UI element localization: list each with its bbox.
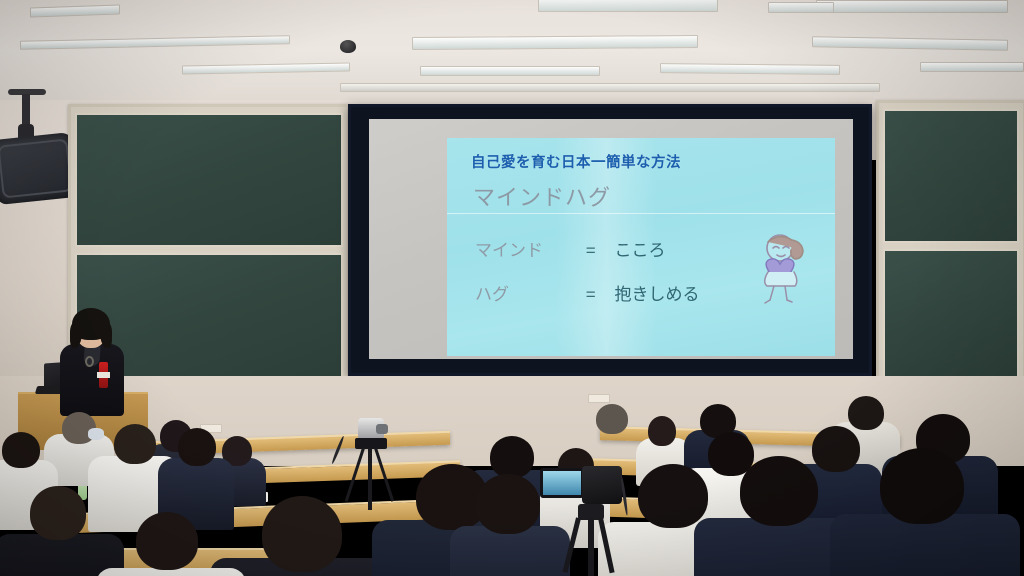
ceiling-light-icon (182, 63, 350, 75)
tripod-leg (588, 518, 594, 576)
screen-surface: 自己愛を育む日本一簡単な方法 マインドハグ マインド = こころ ハグ = 抱き… (369, 119, 853, 359)
slide-definition: 抱きしめる (614, 280, 699, 305)
wall-outlet (588, 394, 610, 403)
chalkboard-right (876, 100, 1024, 392)
dome-camera-icon (340, 40, 356, 53)
ceiling-light-icon (20, 35, 290, 50)
necklace-pendant (85, 356, 94, 367)
ceiling-light-icon (412, 35, 698, 50)
slide-divider (447, 213, 835, 214)
slide-heading: マインドハグ (473, 180, 611, 212)
presenter-hair (72, 308, 110, 340)
ceiling (0, 0, 1024, 112)
tripod-leg (368, 448, 372, 510)
ceiling-light-icon (538, 0, 718, 12)
ceiling-light-icon (30, 4, 120, 17)
ceiling-light-icon (768, 2, 834, 13)
ceiling-light-icon (420, 66, 600, 76)
chalkboard-panel (75, 113, 343, 247)
chalkboard-panel (883, 249, 1019, 379)
video-camera-body (582, 466, 622, 504)
slide-definition: こころ (614, 236, 665, 261)
chalkboard-panel (883, 109, 1019, 243)
slide-equals: = (572, 285, 610, 305)
ceiling-light-icon (812, 36, 1008, 50)
lecture-hall-photo: 自己愛を育む日本一簡単な方法 マインドハグ マインド = こころ ハグ = 抱き… (0, 0, 1024, 576)
presentation-slide: 自己愛を育む日本一簡単な方法 マインドハグ マインド = こころ ハグ = 抱き… (447, 138, 835, 356)
slide-term: マインド (475, 236, 567, 261)
girl-hugging-heart-icon (752, 226, 816, 310)
slide-equals: = (572, 241, 610, 261)
ceiling-light-icon (920, 62, 1024, 72)
slide-row: ハグ = 抱きしめる (475, 280, 699, 305)
slide-term: ハグ (475, 280, 567, 305)
slide-title: 自己愛を育む日本一簡単な方法 (471, 151, 681, 172)
camera-lcd-screen (540, 468, 584, 498)
ceiling-light-strip (340, 83, 880, 92)
ceiling-light-icon (660, 63, 840, 75)
camera-360-lens (376, 424, 388, 434)
slide-row: マインド = こころ (475, 236, 665, 261)
ceiling-light-icon (816, 0, 1008, 13)
projection-screen: 自己愛を育む日本一簡単な方法 マインドハグ マインド = こころ ハグ = 抱き… (348, 104, 872, 376)
red-ribbon-badge (99, 362, 108, 388)
